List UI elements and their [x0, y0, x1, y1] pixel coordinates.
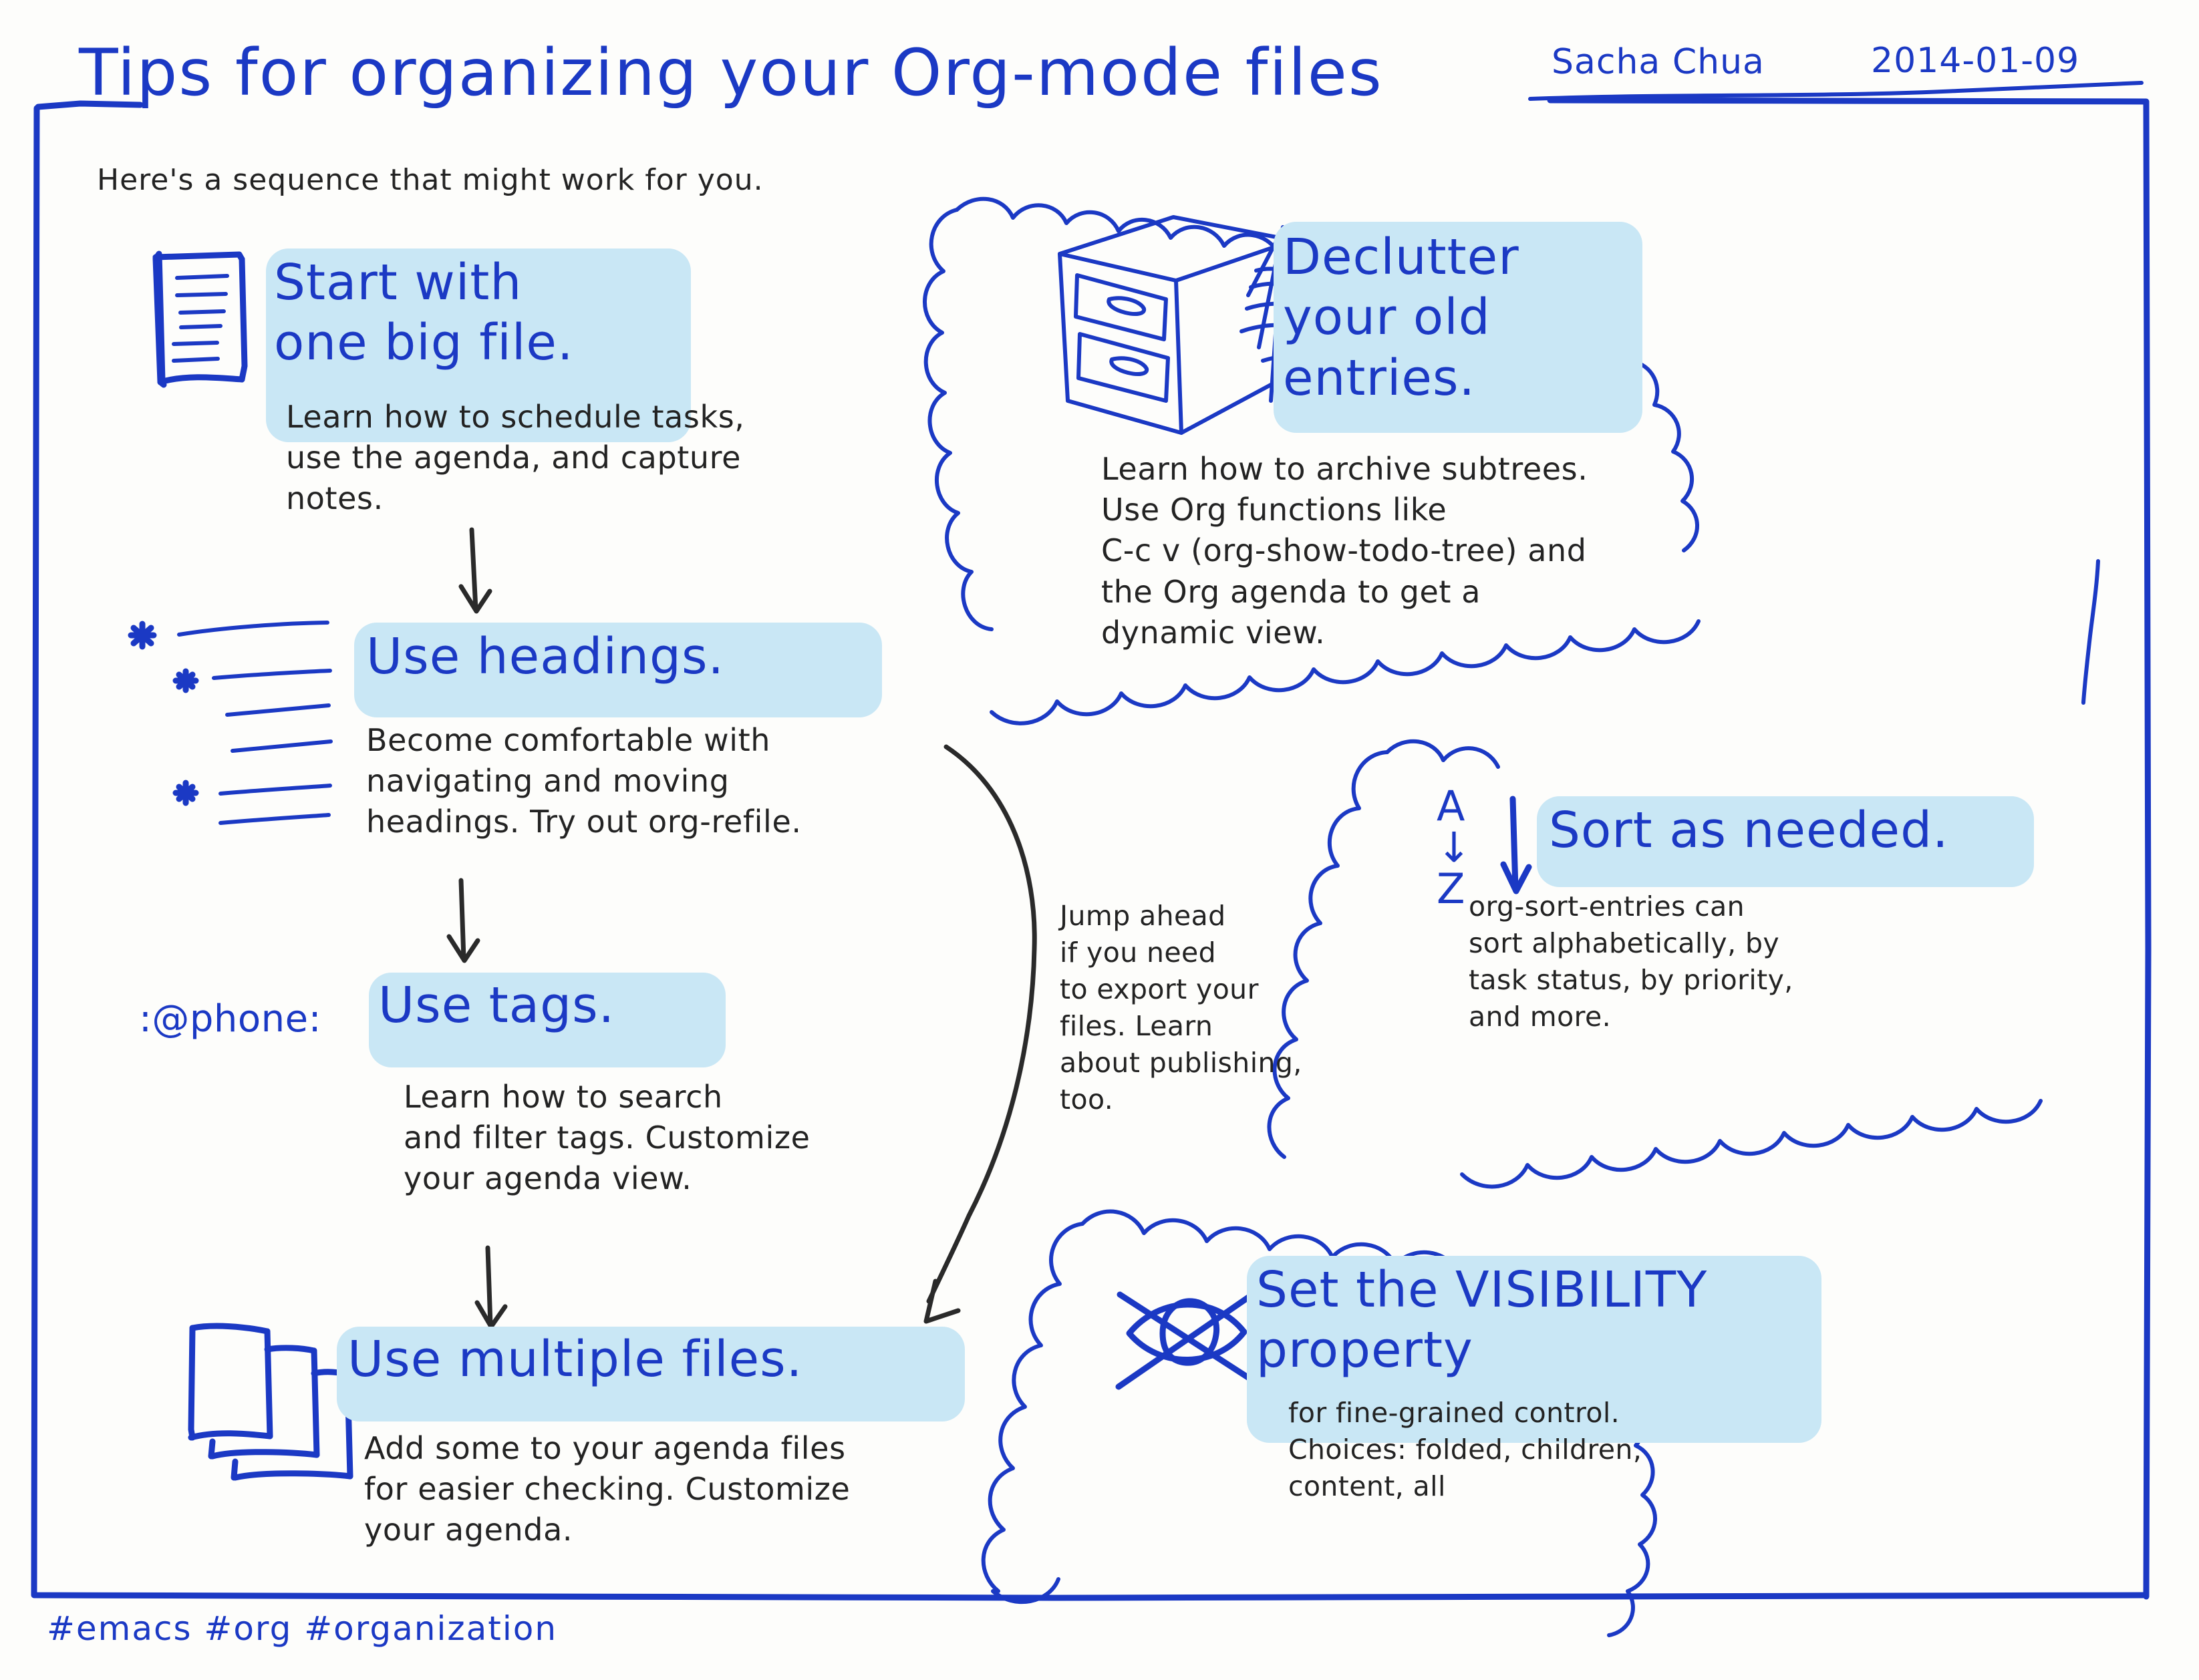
section-heading-set-visibility-property: Set the VISIBILITY property	[1256, 1260, 1811, 1381]
section-body-start-with-one-big-file: Learn how to schedule tasks, use the age…	[286, 397, 927, 520]
tag-label-phone: :@phone:	[139, 995, 321, 1043]
section-heading-use-tags: Use tags.	[378, 975, 752, 1035]
section-heading-sort-as-needed: Sort as needed.	[1549, 800, 2083, 860]
page-title: Tips for organizing your Org-mode files	[79, 32, 1383, 114]
document-page-icon	[156, 254, 245, 385]
jump-ahead-note: Jump ahead if you need to export your fi…	[1060, 898, 1327, 1118]
section-heading-use-multiple-files: Use multiple files.	[347, 1329, 982, 1389]
section-heading-start-with-one-big-file: Start with one big file.	[274, 253, 688, 373]
section-body-use-headings: Become comfortable with navigating and m…	[366, 720, 968, 843]
crossed-out-eye-icon	[1119, 1292, 1256, 1387]
date-label: 2014-01-09	[1871, 39, 2079, 83]
org-outline-asterisks-icon	[131, 623, 331, 823]
footer-hashtags: #emacs #org #organization	[47, 1607, 557, 1650]
byline-underline	[1530, 83, 2142, 99]
section-body-sort-as-needed: org-sort-entries can sort alphabetically…	[1469, 888, 2070, 1035]
section-body-declutter-old-entries: Learn how to archive subtrees. Use Org f…	[1101, 449, 1850, 653]
sketchnote-canvas: .ink { fill:none; stroke:#1b39c4; stroke…	[0, 0, 2199, 1680]
arrow-tags-to-multiple-files	[477, 1248, 505, 1327]
a-to-z-sort-arrow-icon	[1503, 799, 1529, 891]
section-body-use-multiple-files: Add some to your agenda files for easier…	[364, 1428, 1006, 1551]
author-name: Sacha Chua	[1552, 40, 1765, 85]
intro-line: Here's a sequence that might work for yo…	[97, 162, 764, 199]
arrow-start-to-headings	[461, 530, 490, 611]
arrow-headings-to-tags	[449, 880, 478, 961]
section-body-set-visibility-property: for fine-grained control. Choices: folde…	[1288, 1395, 1943, 1505]
a-to-z-letters: A ↓ Z	[1437, 786, 1471, 910]
section-body-use-tags: Learn how to search and filter tags. Cus…	[404, 1077, 951, 1200]
section-heading-declutter-old-entries: Declutter your old entries.	[1283, 227, 1630, 408]
section-heading-use-headings: Use headings.	[366, 627, 901, 687]
stacked-files-icon	[191, 1326, 350, 1478]
